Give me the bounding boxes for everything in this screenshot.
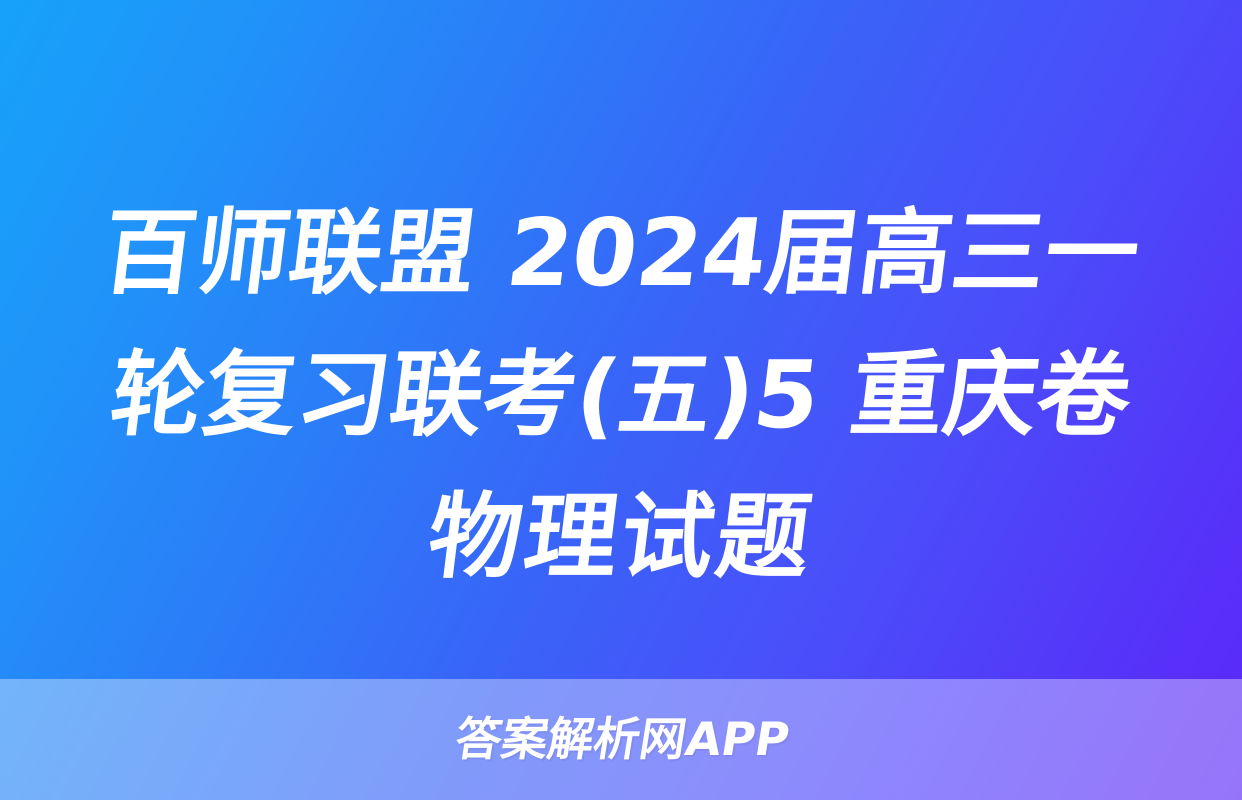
- poster-title-line-1: 百师联盟 2024届高三一: [53, 182, 1188, 324]
- poster-title-line-2: 轮复习联考(五)5 重庆卷: [53, 324, 1188, 466]
- watermark-band: 答案解析网APP: [0, 679, 1242, 800]
- poster-title-line-3: 物理试题: [53, 466, 1188, 608]
- exam-cover-poster: 百师联盟 2024届高三一 轮复习联考(五)5 重庆卷 物理试题 答案解析网AP…: [0, 0, 1242, 800]
- app-watermark-label: 答案解析网APP: [453, 716, 793, 762]
- poster-title-block: 百师联盟 2024届高三一 轮复习联考(五)5 重庆卷 物理试题: [0, 182, 1242, 608]
